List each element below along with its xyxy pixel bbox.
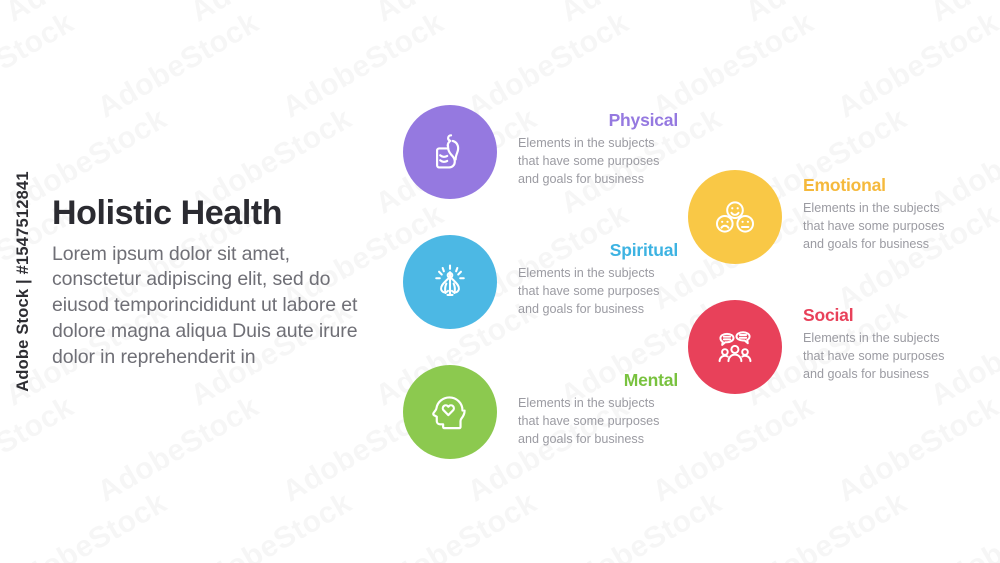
physical-desc: Elements in the subjects that have some … <box>518 135 678 188</box>
social-text: Social Elements in the subjects that hav… <box>803 300 963 383</box>
infographic-canvas: AdobeStockAdobeStockAdobeStockAdobeStock… <box>0 0 1000 563</box>
headline-block: Holistic Health Lorem ipsum dolor sit am… <box>52 196 372 370</box>
item-spiritual[interactable]: Spiritual Elements in the subjects that … <box>403 235 678 329</box>
emotional-title: Emotional <box>803 176 963 195</box>
physical-icon-circle[interactable] <box>403 105 497 199</box>
social-icon-circle[interactable] <box>688 300 782 394</box>
emotional-desc: Elements in the subjects that have some … <box>803 200 963 253</box>
physical-title: Physical <box>518 111 678 130</box>
head-heart-icon <box>425 387 475 437</box>
item-physical[interactable]: Physical Elements in the subjects that h… <box>403 105 678 199</box>
watermark-tile: AdobeStock <box>92 390 265 509</box>
watermark-tile: AdobeStock <box>370 0 543 29</box>
speech-people-icon <box>710 322 760 372</box>
watermark-tile: AdobeStock <box>925 0 1000 29</box>
spiritual-title: Spiritual <box>518 241 678 260</box>
watermark-tile: AdobeStock <box>185 0 358 29</box>
watermark-tile: AdobeStock <box>740 486 913 563</box>
watermark-tile: AdobeStock <box>925 486 1000 563</box>
watermark-tile: AdobeStock <box>740 0 913 29</box>
item-emotional[interactable]: Emotional Elements in the subjects that … <box>688 170 963 264</box>
muscle-arm-icon <box>425 127 475 177</box>
emoji-faces-icon <box>710 192 760 242</box>
watermark-tile: AdobeStock <box>555 486 728 563</box>
item-social[interactable]: Social Elements in the subjects that hav… <box>688 300 963 394</box>
watermark-tile: AdobeStock <box>370 486 543 563</box>
stock-credit-text: Adobe Stock | #1547512841 <box>14 171 33 392</box>
mental-title: Mental <box>518 371 678 390</box>
item-mental[interactable]: Mental Elements in the subjects that hav… <box>403 365 678 459</box>
emotional-icon-circle[interactable] <box>688 170 782 264</box>
mental-desc: Elements in the subjects that have some … <box>518 395 678 448</box>
page-title: Holistic Health <box>52 196 372 232</box>
watermark-tile: AdobeStock <box>555 0 728 29</box>
watermark-tile: AdobeStock <box>832 6 1000 125</box>
spiritual-desc: Elements in the subjects that have some … <box>518 265 678 318</box>
page-description: Lorem ipsum dolor sit amet, consctetur a… <box>52 242 372 371</box>
social-desc: Elements in the subjects that have some … <box>803 330 963 383</box>
physical-text: Physical Elements in the subjects that h… <box>518 105 678 188</box>
mental-icon-circle[interactable] <box>403 365 497 459</box>
spiritual-icon-circle[interactable] <box>403 235 497 329</box>
emotional-text: Emotional Elements in the subjects that … <box>803 170 963 253</box>
stock-credit-bar: Adobe Stock | #1547512841 <box>6 0 40 563</box>
watermark-tile: AdobeStock <box>832 390 1000 509</box>
mental-text: Mental Elements in the subjects that hav… <box>518 365 678 448</box>
praying-hands-icon <box>425 257 475 307</box>
watermark-tile: AdobeStock <box>185 486 358 563</box>
social-title: Social <box>803 306 963 325</box>
watermark-tile: AdobeStock <box>92 6 265 125</box>
spiritual-text: Spiritual Elements in the subjects that … <box>518 235 678 318</box>
